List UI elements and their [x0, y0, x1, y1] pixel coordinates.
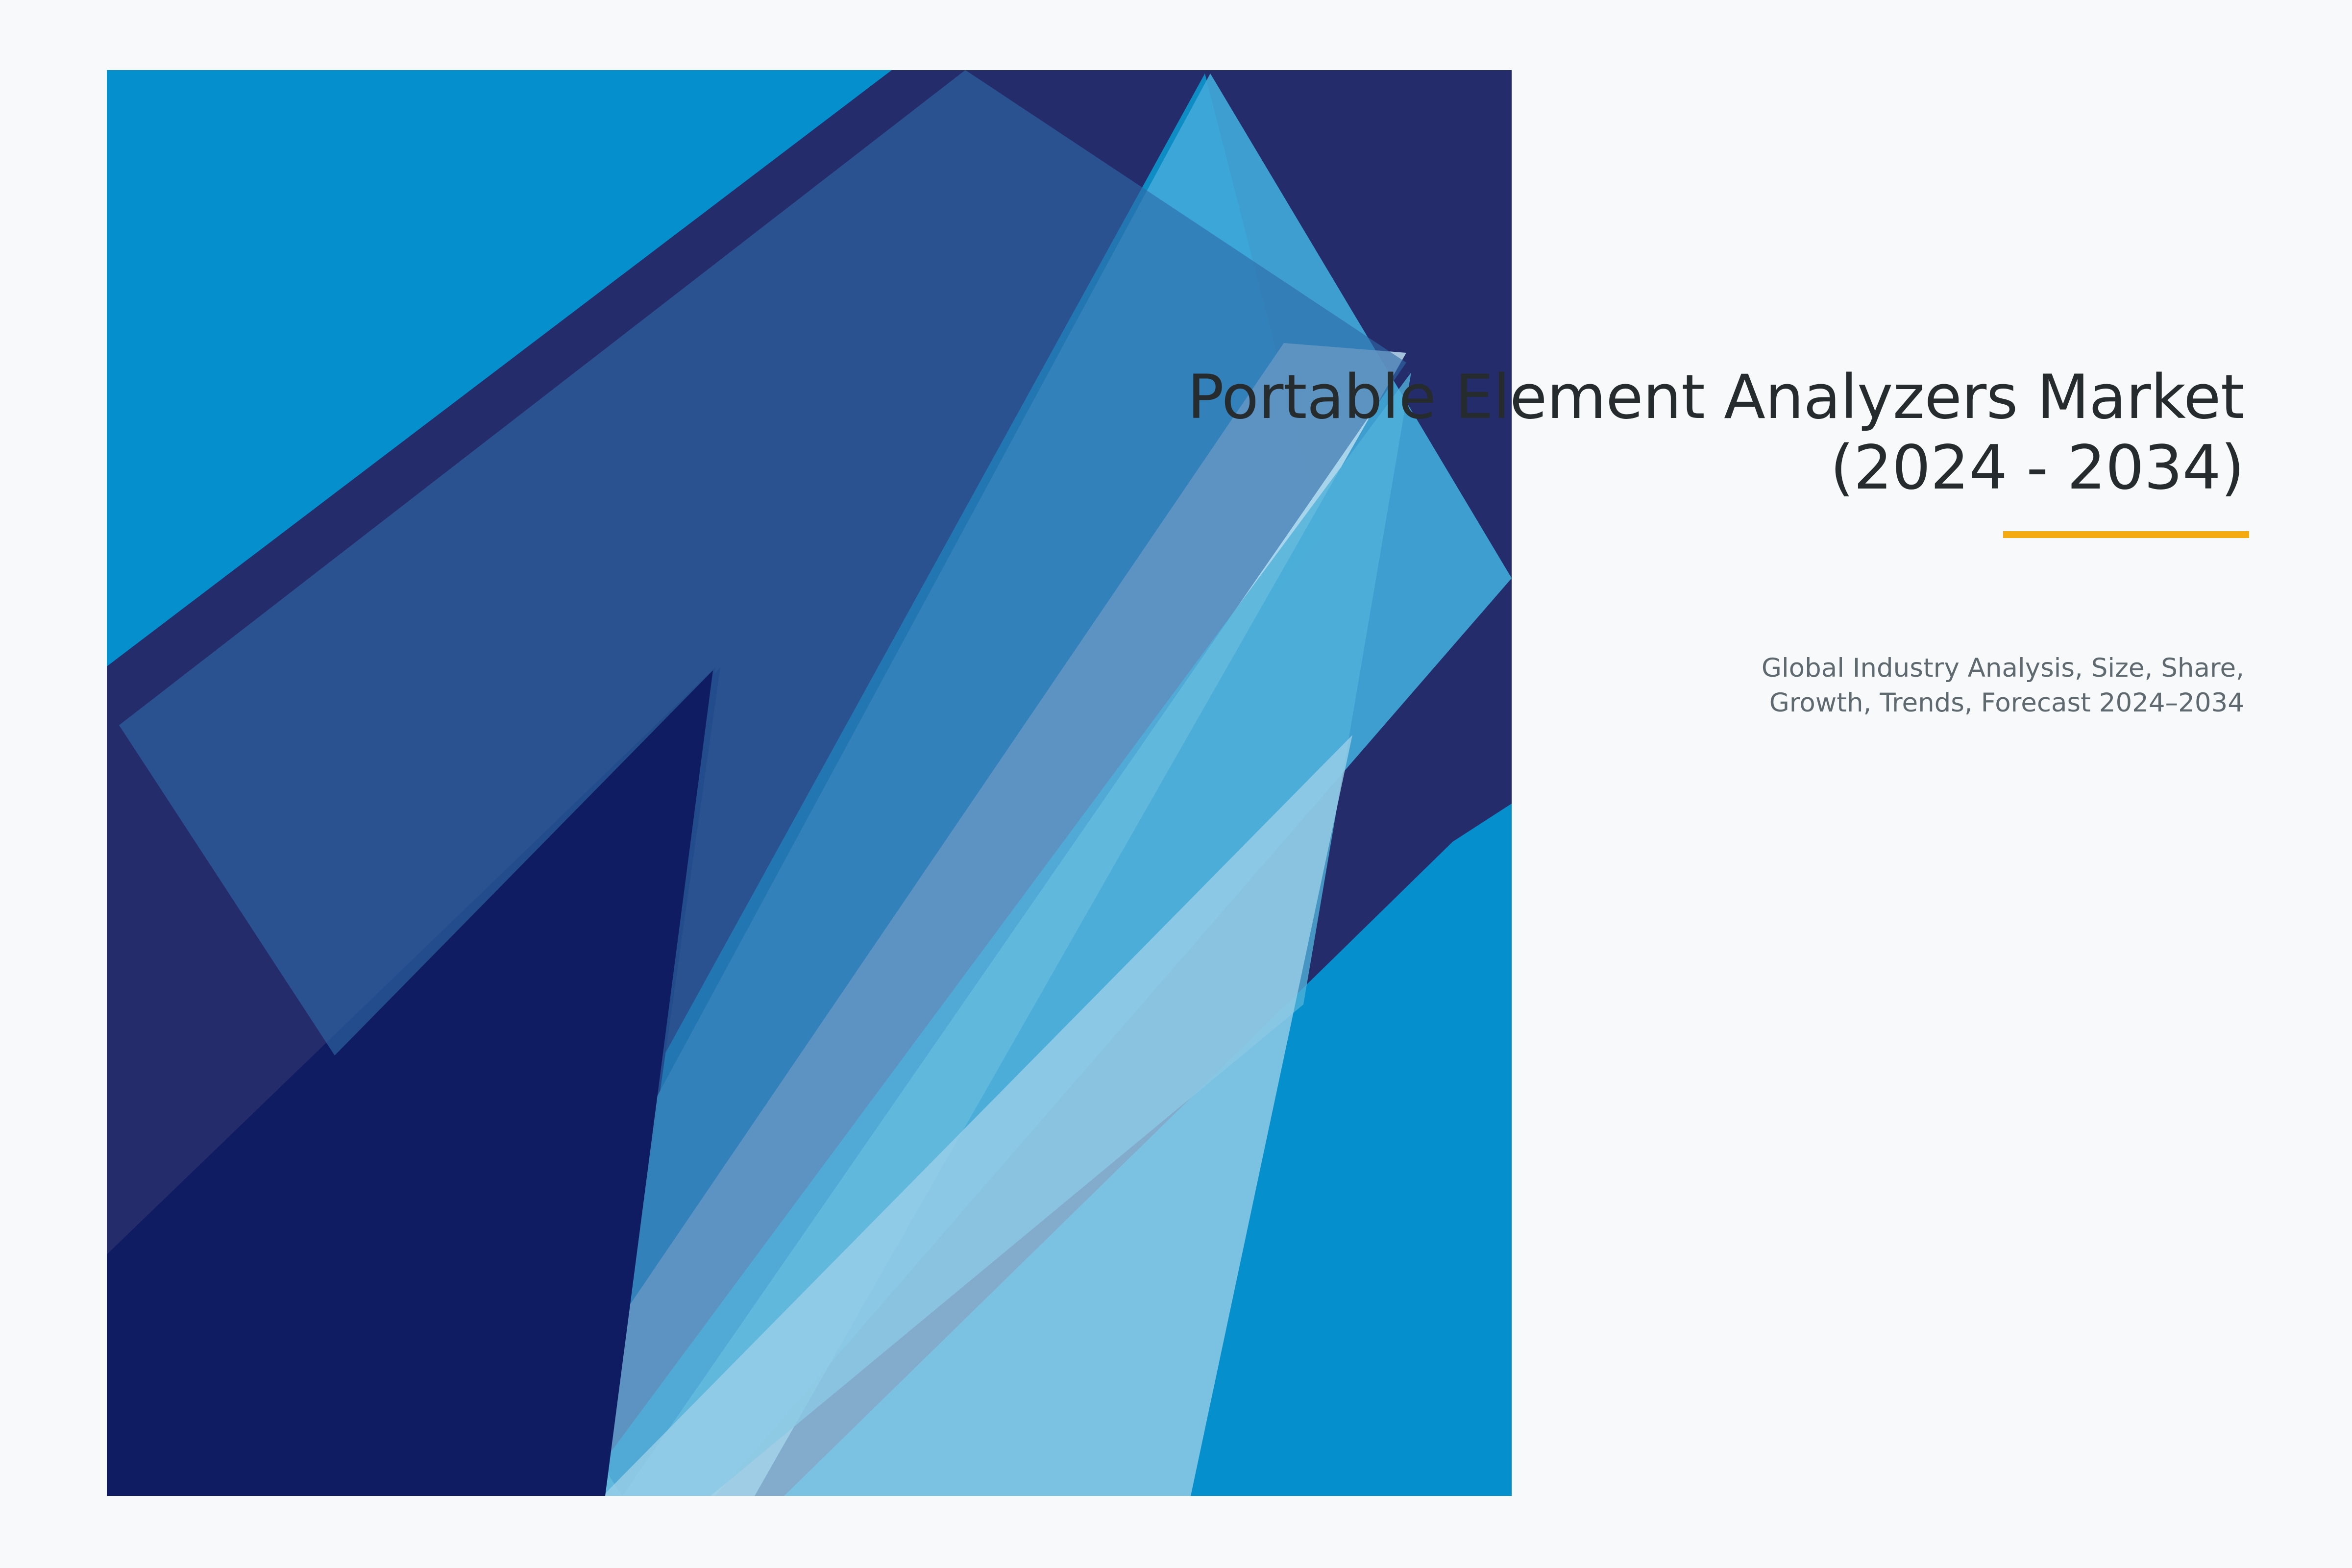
cover-text-block: Portable Element Analyzers Market (2024 … [833, 363, 2244, 504]
abstract-geometric-artwork [0, 0, 2352, 1568]
page-title: Portable Element Analyzers Market (2024 … [833, 363, 2244, 504]
title-accent-rule [2003, 531, 2249, 538]
cover-page: Portable Element Analyzers Market (2024 … [0, 0, 2352, 1568]
page-subtitle: Global Industry Analysis, Size, Share, G… [1421, 651, 2244, 720]
